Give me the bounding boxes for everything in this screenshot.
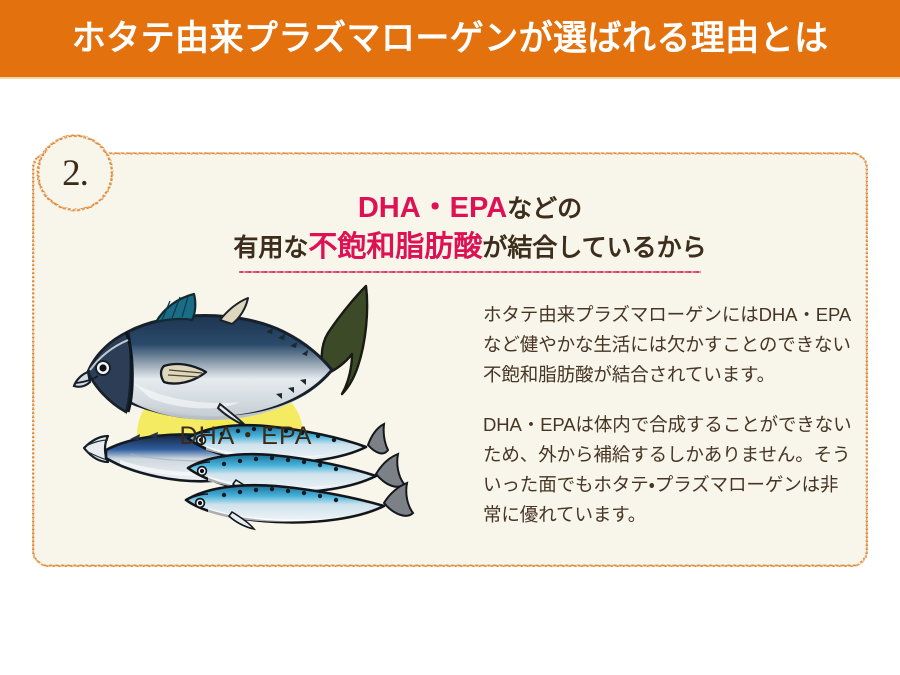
header-divider (0, 77, 900, 79)
step-number-label: 2. (62, 155, 88, 192)
tuna-fish-icon (74, 286, 367, 426)
heading-highlight-fatty-acid: 不飽和脂肪酸 (308, 231, 482, 263)
heading-line-1: DHA・EPAなどの (120, 190, 820, 228)
fish-illustration-group (70, 270, 470, 550)
page-title: ホタテ由来プラズマローゲンが選ばれる理由とは (72, 21, 829, 56)
heading-line1-rest: などの (507, 195, 582, 223)
section-heading: DHA・EPAなどの 有用な不飽和脂肪酸が結合しているから (120, 190, 820, 273)
body-paragraph-2: DHA・EPAは体内で合成することができないため、外から補給するしかありません。… (483, 410, 853, 530)
fish-illustration-svg (70, 270, 470, 550)
heading-line2-suffix: が結合しているから (482, 234, 706, 262)
body-text-column: ホタテ由来プラズマローゲンにはDHA・EPAなど健やかな生活には欠かすことのでき… (483, 300, 853, 530)
step-number-badge: 2. (36, 134, 114, 212)
heading-line-2: 有用な不飽和脂肪酸が結合しているから (120, 229, 820, 267)
heading-highlight-dha-epa: DHA・EPA (358, 192, 507, 224)
body-paragraph-1: ホタテ由来プラズマローゲンにはDHA・EPAなど健やかな生活には欠かすことのでき… (483, 300, 853, 390)
heading-underline (239, 271, 701, 273)
heading-line2-prefix: 有用な (233, 234, 308, 262)
header-banner: ホタテ由来プラズマローゲンが選ばれる理由とは (0, 0, 900, 77)
